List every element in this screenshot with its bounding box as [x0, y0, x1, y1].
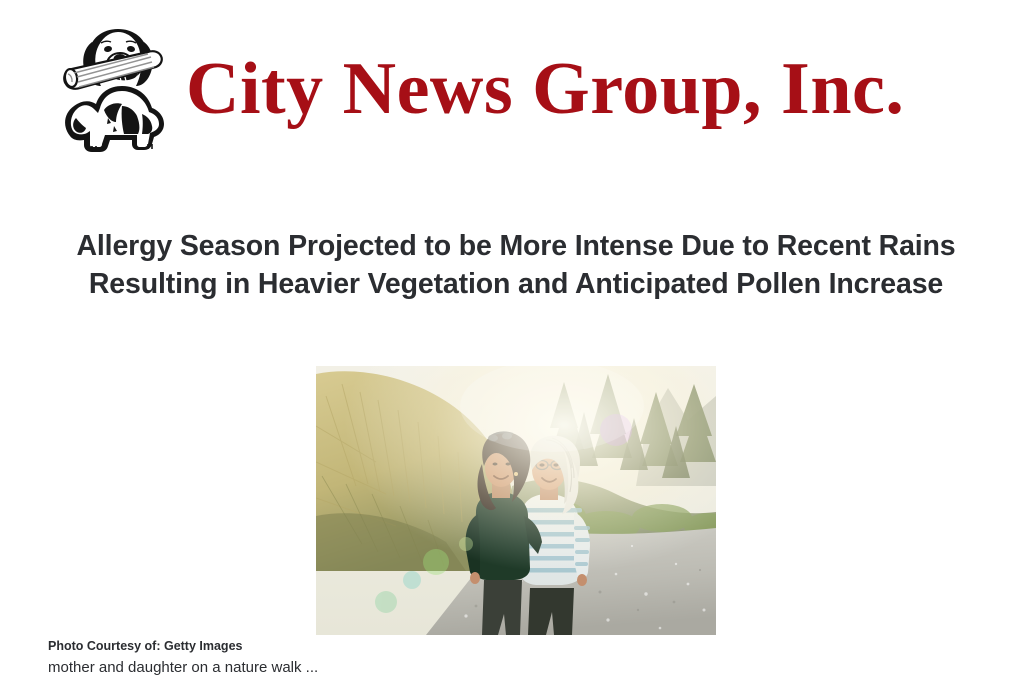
article-photo — [316, 366, 716, 635]
masthead-logo-link[interactable]: City News Group, Inc. — [52, 14, 904, 170]
photo-caption-block: Photo Courtesy of: Getty Images mother a… — [48, 638, 748, 677]
photo-caption: mother and daughter on a nature walk ... — [48, 658, 748, 677]
article-photo-image — [316, 366, 716, 635]
masthead-wordmark: City News Group, Inc. — [186, 52, 904, 126]
site-masthead: City News Group, Inc. — [0, 0, 1032, 182]
photo-credit: Photo Courtesy of: Getty Images — [48, 638, 748, 654]
dog-with-newspaper-logo — [52, 18, 180, 166]
article-headline: Allergy Season Projected to be More Inte… — [36, 227, 996, 303]
